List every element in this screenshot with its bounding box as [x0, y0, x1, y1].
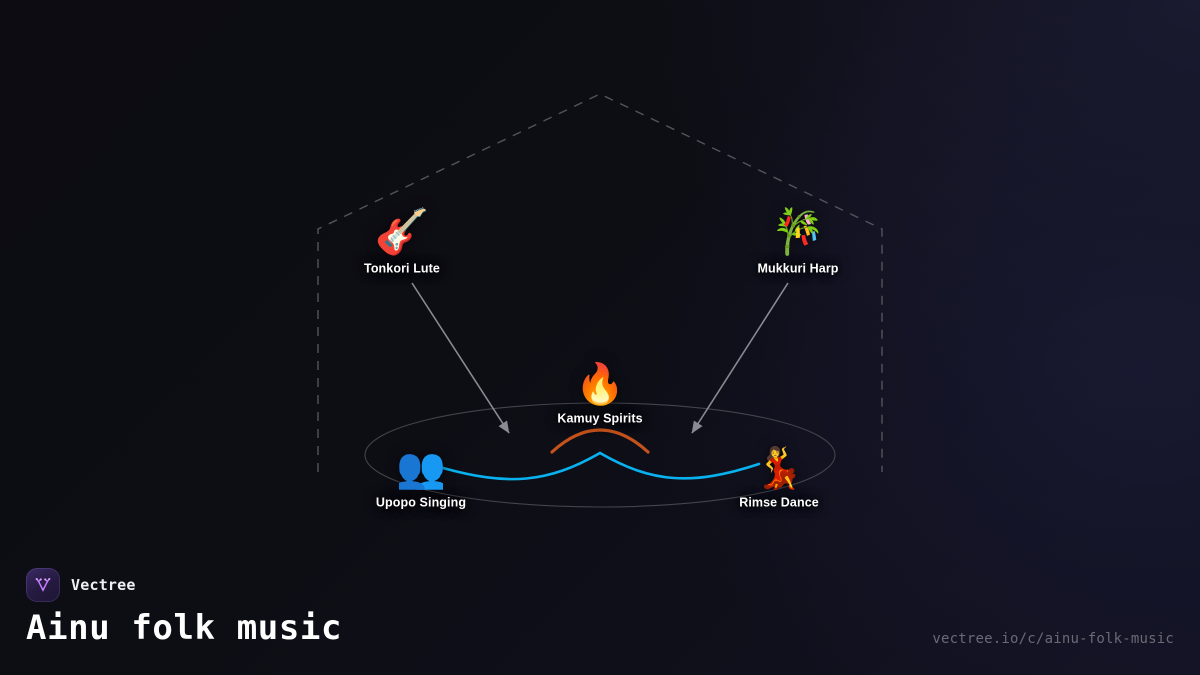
orange-arc-edge	[552, 430, 648, 452]
node-label-tonkori-lute: Tonkori Lute	[364, 262, 440, 276]
page-title: Ainu folk music	[26, 608, 342, 648]
node-tonkori-lute[interactable]: 🎸 Tonkori Lute	[364, 211, 440, 276]
node-label-kamuy-spirits: Kamuy Spirits	[557, 412, 642, 426]
arrow-tonkori-to-upopo	[412, 283, 509, 433]
woman-dancing-icon: 💃	[754, 449, 804, 489]
share-url[interactable]: vectree.io/c/ainu-folk-music	[932, 631, 1174, 647]
node-label-upopo-singing: Upopo Singing	[376, 496, 466, 510]
vectree-tree-logo-icon	[26, 568, 60, 602]
fire-icon: 🔥	[575, 365, 625, 405]
footer: Vectree Ainu folk music vectree.io/c/ain…	[0, 565, 1200, 675]
node-upopo-singing[interactable]: 👥 Upopo Singing	[376, 449, 466, 510]
node-label-mukkuri-harp: Mukkuri Harp	[757, 262, 838, 276]
brand[interactable]: Vectree	[26, 568, 136, 602]
electric-guitar-icon: 🎸	[375, 211, 430, 255]
arrow-mukkuri-to-rimse	[692, 283, 788, 433]
cyan-wave-edge	[443, 453, 759, 479]
node-kamuy-spirits[interactable]: 🔥 Kamuy Spirits	[557, 365, 642, 426]
busts-in-silhouette-icon: 👥	[396, 449, 446, 489]
tanabata-tree-icon: 🎋	[771, 211, 826, 255]
node-rimse-dance[interactable]: 💃 Rimse Dance	[739, 449, 819, 510]
node-label-rimse-dance: Rimse Dance	[739, 496, 819, 510]
brand-name: Vectree	[71, 576, 136, 594]
node-mukkuri-harp[interactable]: 🎋 Mukkuri Harp	[757, 211, 838, 276]
